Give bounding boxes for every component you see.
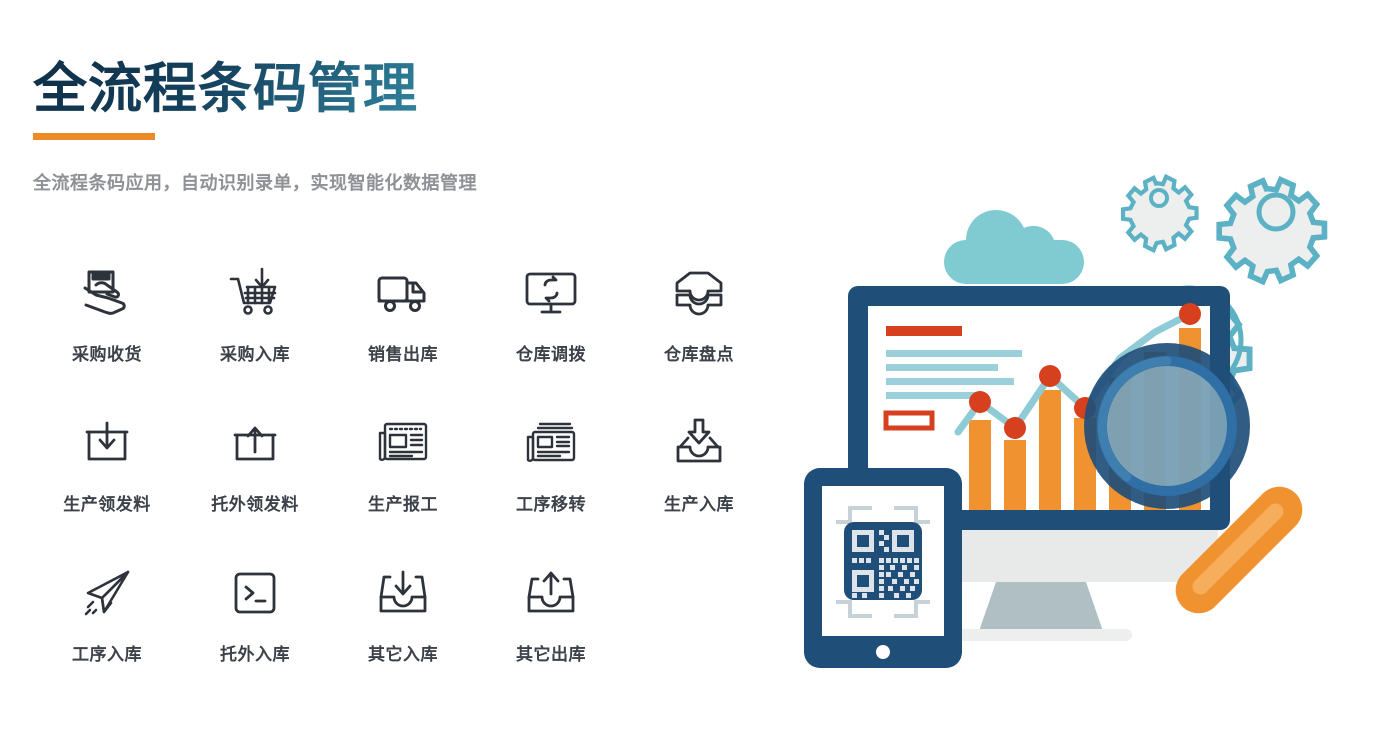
feature-item-process-instock[interactable]: 工序入库	[33, 562, 181, 712]
delivery-truck-icon	[372, 262, 434, 324]
feature-item-empty	[625, 562, 773, 712]
feature-row-2: 生产领发料 托外领发料	[33, 412, 773, 562]
feature-label: 采购收货	[72, 340, 142, 365]
feature-label: 销售出库	[368, 340, 438, 365]
feature-label: 其它出库	[516, 640, 586, 665]
newspaper-report-icon	[372, 412, 434, 474]
feature-item-purchase-receipt[interactable]: 采购收货	[33, 262, 181, 412]
feature-label: 生产入库	[664, 490, 734, 515]
feature-item-sales-outstock[interactable]: 销售出库	[329, 262, 477, 412]
box-arrow-in-icon	[76, 412, 138, 474]
page-subtitle: 全流程条码应用，自动识别录单，实现智能化数据管理	[33, 169, 477, 195]
tray-arrow-up-icon	[520, 562, 582, 624]
feature-item-production-issue[interactable]: 生产领发料	[33, 412, 181, 562]
feature-item-outsource-issue[interactable]: 托外领发料	[181, 412, 329, 562]
gear-small	[1123, 177, 1197, 251]
box-arrow-out-icon	[224, 412, 286, 474]
feature-label: 托外入库	[220, 640, 290, 665]
hero-banner: 全流程条码管理 全流程条码应用，自动识别录单，实现智能化数据管理	[0, 0, 1378, 755]
feature-label: 采购入库	[220, 340, 290, 365]
monitor-stand	[928, 518, 1218, 641]
feature-icon-grid: 采购收货 采	[33, 262, 773, 712]
feature-item-purchase-instock[interactable]: 采购入库	[181, 262, 329, 412]
feature-label: 托外领发料	[211, 490, 299, 515]
feature-label: 工序入库	[72, 640, 142, 665]
feature-item-process-transfer[interactable]: 工序移转	[477, 412, 625, 562]
tablet	[804, 468, 962, 668]
page-title: 全流程条码管理	[33, 58, 653, 120]
feature-label: 生产报工	[368, 490, 438, 515]
terminal-prompt-icon	[224, 562, 286, 624]
cloud-shape	[944, 210, 1084, 284]
feature-row-3: 工序入库 托外入库	[33, 562, 773, 712]
feature-item-warehouse-count[interactable]: 仓库盘点	[625, 262, 773, 412]
monitor-transfer-icon	[520, 262, 582, 324]
feature-item-other-instock[interactable]: 其它入库	[329, 562, 477, 712]
cart-arrow-down-icon	[224, 262, 286, 324]
feature-item-production-instock[interactable]: 生产入库	[625, 412, 773, 562]
feature-item-other-outstock[interactable]: 其它出库	[477, 562, 625, 712]
stacked-trays-icon	[668, 262, 730, 324]
feature-item-outsource-instock[interactable]: 托外入库	[181, 562, 329, 712]
tray-arrow-down-icon	[372, 562, 434, 624]
title-underline-rule	[33, 133, 155, 140]
newspaper-stack-icon	[520, 412, 582, 474]
feature-label: 其它入库	[368, 640, 438, 665]
feature-label: 工序移转	[516, 490, 586, 515]
paper-plane-icon	[76, 562, 138, 624]
feature-item-production-report[interactable]: 生产报工	[329, 412, 477, 562]
feature-label: 仓库调拨	[516, 340, 586, 365]
barcode-analytics-illustration	[780, 150, 1378, 690]
gear-medium	[1219, 180, 1324, 282]
feature-row-1: 采购收货 采	[33, 262, 773, 412]
feature-label: 生产领发料	[63, 490, 151, 515]
feature-label: 仓库盘点	[664, 340, 734, 365]
inbox-arrow-down-icon	[668, 412, 730, 474]
hand-package-icon	[76, 262, 138, 324]
feature-item-warehouse-transfer[interactable]: 仓库调拨	[477, 262, 625, 412]
headline-block: 全流程条码管理	[33, 58, 653, 120]
